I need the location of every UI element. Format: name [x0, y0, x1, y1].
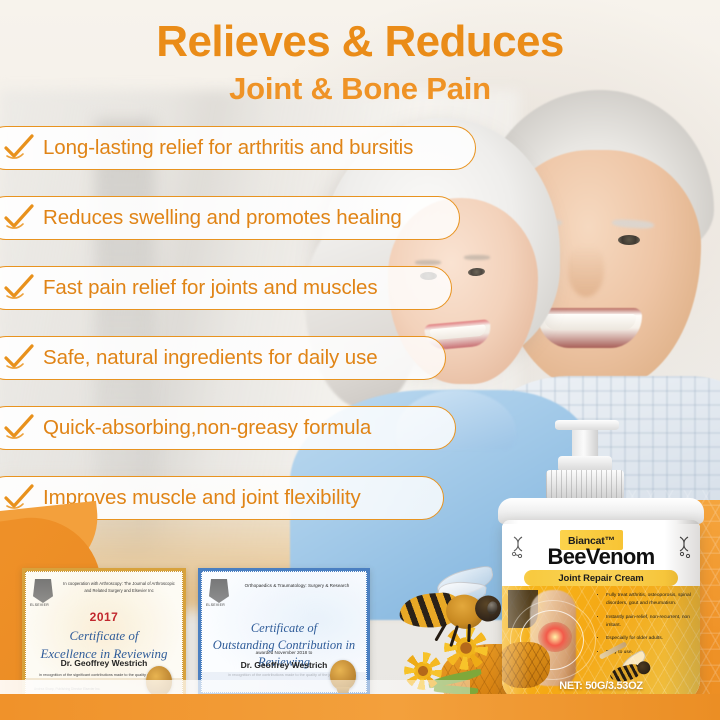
label-claim: Especially for older adults. — [606, 635, 696, 643]
label-claim: Fully treat arthritis, osteoporosis, spi… — [606, 592, 696, 608]
pump-cap — [555, 420, 619, 430]
certificate-outstanding-contribution: ELSEVIER Orthopaedics & Traumatology: Su… — [198, 568, 370, 696]
bottom-orange-band — [0, 694, 720, 720]
pump-neck — [572, 430, 598, 456]
product-advertisement-poster: Relieves & Reduces Joint & Bone Pain Lon… — [0, 0, 720, 720]
benefit-item-1[interactable]: Long-lasting relief for arthritis and bu… — [0, 126, 476, 170]
certificate-title-line1: Certificate of — [202, 620, 366, 637]
label-claim: Instantly pain-relief, non-recurrent, no… — [606, 614, 696, 630]
benefit-item-2[interactable]: Reduces swelling and promotes healing — [0, 196, 460, 240]
headline-main: Relieves & Reduces — [0, 18, 720, 66]
benefit-label: Safe, natural ingredients for daily use — [43, 346, 378, 370]
check-swoosh-icon — [3, 134, 35, 162]
headline-sub: Joint & Bone Pain — [0, 70, 720, 107]
benefit-label: Reduces swelling and promotes healing — [43, 206, 402, 230]
benefit-item-5[interactable]: Quick-absorbing,non-greasy formula — [0, 406, 456, 450]
product-subtitle-pill: Joint Repair Cream — [524, 570, 678, 586]
product-subtitle: Joint Repair Cream — [558, 573, 643, 584]
benefits-list: Long-lasting relief for arthritis and bu… — [0, 126, 520, 546]
product-name: BeeVenom — [502, 544, 700, 570]
honeybee-icon — [393, 562, 511, 658]
check-swoosh-icon — [3, 414, 35, 442]
net-weight-label: NET: 50G/3.53OZ — [502, 680, 700, 692]
bee-leg — [467, 624, 471, 642]
certificate-journal-name: Orthopaedics & Traumatology: Surgery & R… — [236, 582, 358, 590]
benefit-label: Fast pain relief for joints and muscles — [43, 276, 378, 300]
elsevier-logo-icon — [33, 579, 53, 603]
certificate-title-line1: Certificate of — [26, 627, 182, 645]
benefit-item-3[interactable]: Fast pain relief for joints and muscles — [0, 266, 452, 310]
check-swoosh-icon — [3, 204, 35, 232]
man-teeth — [544, 314, 636, 330]
label-bottom-section: Fully treat arthritis, osteoporosis, spi… — [502, 586, 700, 696]
bee-leg — [449, 625, 459, 647]
product-jar[interactable]: Biancat™ BeeVenom Joint Repair Cream — [498, 420, 710, 700]
benefit-label: Quick-absorbing,non-greasy formula — [43, 416, 371, 440]
check-swoosh-icon — [3, 344, 35, 372]
label-top-section: Biancat™ BeeVenom Joint Repair Cream — [502, 524, 700, 586]
certificate-year: 2017 — [26, 610, 182, 624]
product-label: Biancat™ BeeVenom Joint Repair Cream — [502, 524, 700, 696]
certificate-awarded-date: awarded November 2018 to — [202, 650, 366, 655]
elsevier-logo-icon — [209, 579, 229, 603]
man-nose — [568, 245, 604, 297]
benefit-label: Long-lasting relief for arthritis and bu… — [43, 136, 413, 160]
pump-ribbed-ring — [546, 470, 624, 500]
certificate-header-text: In cooperation with Arthroscopy: The Jou… — [62, 580, 176, 595]
headline-block: Relieves & Reduces Joint & Bone Pain — [0, 18, 720, 107]
certificate-title: Certificate of Excellence in Reviewing — [26, 627, 182, 662]
benefit-item-4[interactable]: Safe, natural ingredients for daily use — [0, 336, 446, 380]
elsevier-logo-label: ELSEVIER — [206, 603, 225, 607]
check-swoosh-icon — [3, 274, 35, 302]
elsevier-logo-label: ELSEVIER — [30, 603, 49, 607]
jar-body: Biancat™ BeeVenom Joint Repair Cream — [502, 520, 700, 702]
man-eye-right — [618, 235, 640, 245]
bottom-white-band — [0, 680, 470, 694]
